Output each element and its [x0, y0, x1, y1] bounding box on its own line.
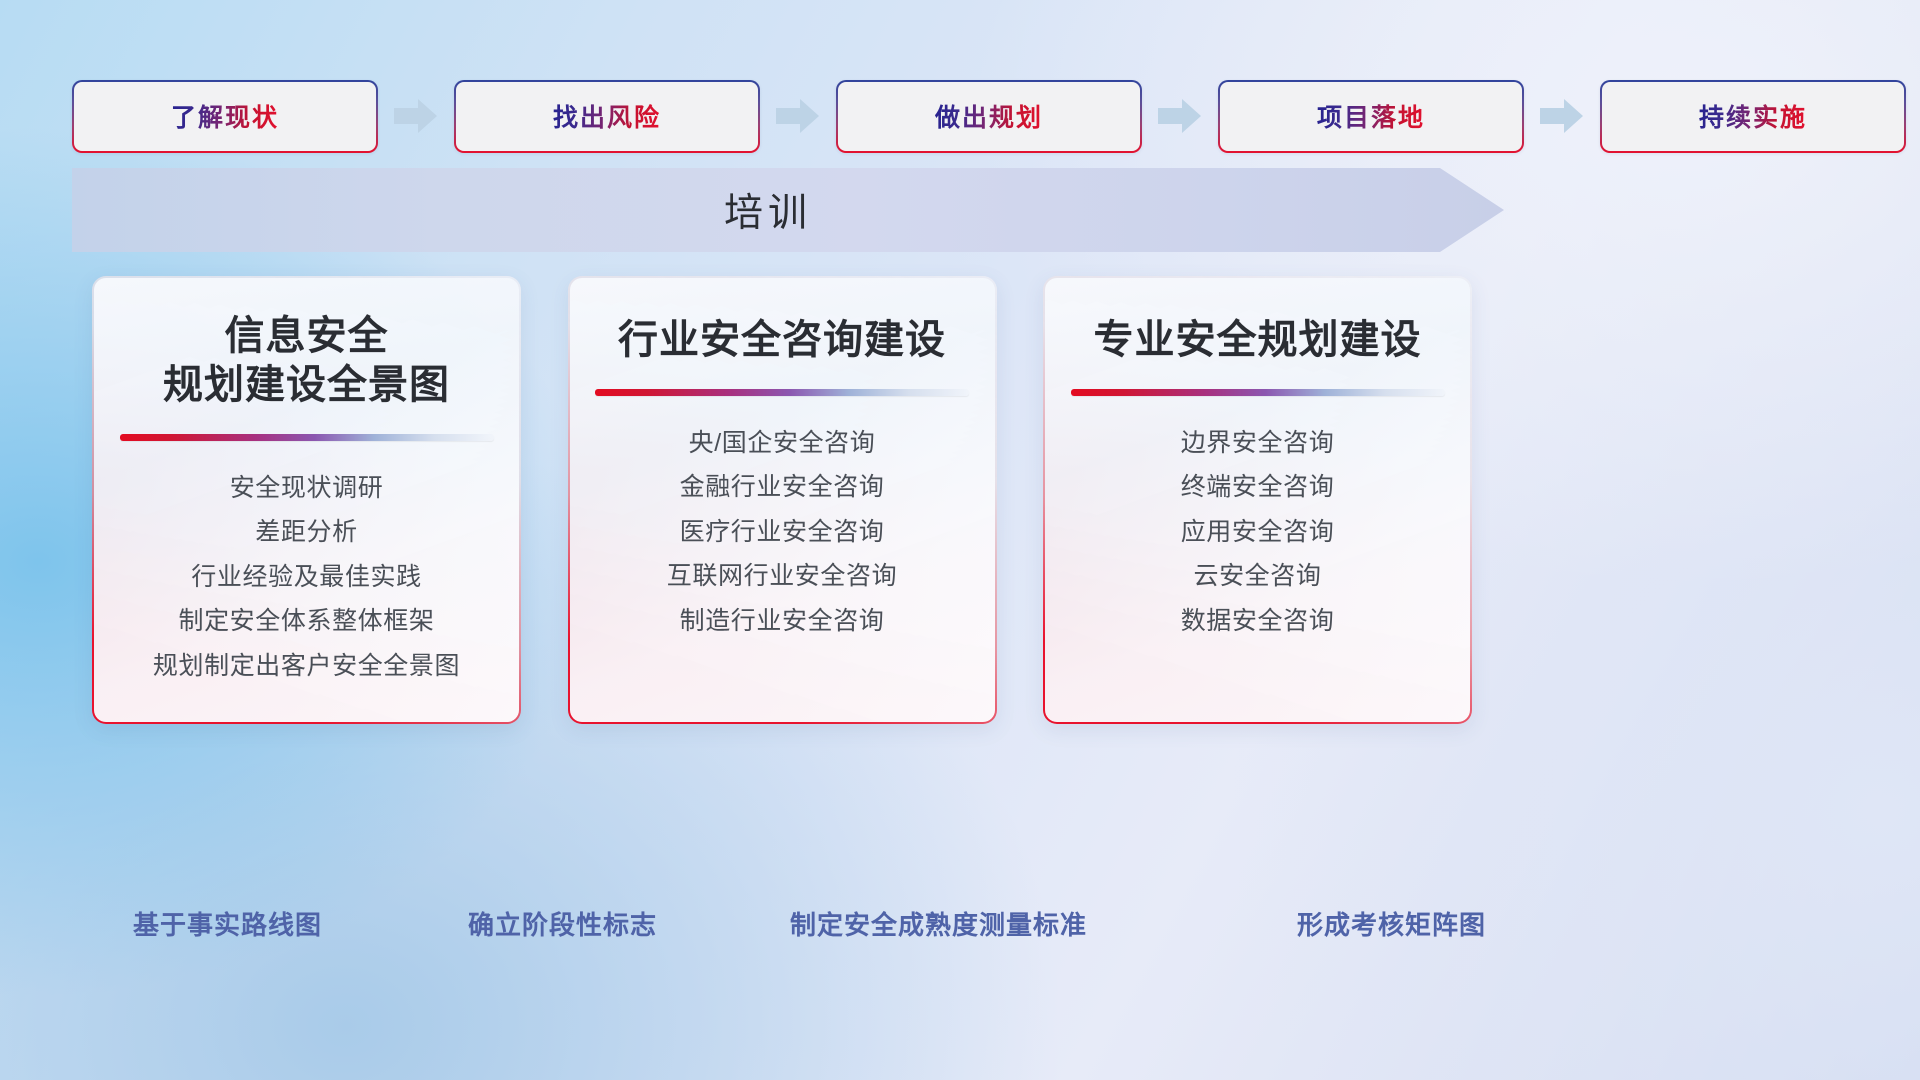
card-item-list-3: 边界安全咨询 终端安全咨询 应用安全咨询 云安全咨询 数据安全咨询: [1045, 430, 1470, 636]
step-box-5[interactable]: 持续实施: [1600, 80, 1906, 153]
list-item: 金融行业安全咨询: [680, 474, 885, 502]
card-divider-3: [1071, 389, 1445, 396]
list-item: 应用安全咨询: [1181, 519, 1335, 547]
step-box-4[interactable]: 项目落地: [1218, 80, 1524, 153]
list-item: 数据安全咨询: [1181, 608, 1335, 636]
card-title-line: 规划建设全景图: [163, 361, 450, 410]
list-item: 医疗行业安全咨询: [680, 519, 885, 547]
card-title-2: 行业安全咨询建设: [606, 316, 958, 365]
step-arrow-icon-4: [1540, 98, 1584, 134]
footer-label-row: 基于事实路线图 确立阶段性标志 制定安全成熟度测量标准 形成考核矩阵图: [0, 905, 1920, 951]
step-box-1[interactable]: 了解现状: [72, 80, 378, 153]
step-label-2: 找出风险: [553, 98, 661, 134]
card-divider-1: [120, 434, 494, 441]
footer-label-1: 基于事实路线图: [133, 905, 322, 942]
list-item: 央/国企安全咨询: [689, 430, 876, 458]
training-banner: 培训: [72, 168, 1504, 252]
step-wrap-3: 项目落地: [1218, 80, 1524, 153]
card-title-line: 专业安全规划建设: [1094, 316, 1422, 365]
step-arrow-icon-3: [1158, 98, 1202, 134]
card-title-1: 信息安全 规划建设全景图: [151, 312, 462, 410]
list-item: 安全现状调研: [230, 475, 384, 503]
list-item: 差距分析: [255, 519, 357, 547]
step-arrow-icon-1: [394, 98, 438, 134]
step-box-2[interactable]: 找出风险: [454, 80, 760, 153]
banner-title: 培训: [72, 168, 1504, 252]
footer-label-3: 制定安全成熟度测量标准: [790, 905, 1087, 942]
step-wrap-1: 找出风险: [454, 80, 760, 153]
card-divider-2: [595, 389, 969, 396]
step-box-3[interactable]: 做出规划: [836, 80, 1142, 153]
card-information-security-blueprint[interactable]: 信息安全 规划建设全景图 安全现状调研 差距分析 行业经验及最佳实践 制定安全体…: [92, 276, 521, 724]
step-wrap-4: 持续实施: [1600, 80, 1906, 153]
step-wrap-0: 了解现状: [72, 80, 378, 153]
list-item: 制造行业安全咨询: [680, 608, 885, 636]
list-item: 规划制定出客户安全全景图: [153, 653, 460, 681]
list-item: 边界安全咨询: [1181, 430, 1335, 458]
card-industry-security-consulting[interactable]: 行业安全咨询建设 央/国企安全咨询 金融行业安全咨询 医疗行业安全咨询 互联网行…: [568, 276, 997, 724]
step-label-4: 项目落地: [1317, 98, 1425, 134]
step-label-5: 持续实施: [1699, 98, 1807, 134]
list-item: 行业经验及最佳实践: [191, 564, 421, 592]
list-item: 终端安全咨询: [1181, 474, 1335, 502]
card-title-line: 行业安全咨询建设: [618, 316, 946, 365]
card-item-list-1: 安全现状调研 差距分析 行业经验及最佳实践 制定安全体系整体框架 规划制定出客户…: [94, 475, 519, 681]
list-item: 制定安全体系整体框架: [178, 608, 434, 636]
list-item: 互联网行业安全咨询: [667, 563, 897, 591]
capability-card-row: 信息安全 规划建设全景图 安全现状调研 差距分析 行业经验及最佳实践 制定安全体…: [92, 276, 1472, 724]
list-item: 云安全咨询: [1193, 563, 1321, 591]
step-label-1: 了解现状: [171, 98, 279, 134]
footer-label-4: 形成考核矩阵图: [1297, 905, 1486, 942]
step-label-3: 做出规划: [935, 98, 1043, 134]
step-wrap-2: 做出规划: [836, 80, 1142, 153]
footer-label-2: 确立阶段性标志: [468, 905, 657, 942]
card-item-list-2: 央/国企安全咨询 金融行业安全咨询 医疗行业安全咨询 互联网行业安全咨询 制造行…: [570, 430, 995, 636]
step-arrow-icon-2: [776, 98, 820, 134]
card-professional-security-planning[interactable]: 专业安全规划建设 边界安全咨询 终端安全咨询 应用安全咨询 云安全咨询 数据安全…: [1043, 276, 1472, 724]
card-title-3: 专业安全规划建设: [1082, 316, 1434, 365]
process-step-row: 了解现状 找出风险 做出规划 项目落地: [72, 78, 1848, 154]
card-title-line: 信息安全: [163, 312, 450, 361]
